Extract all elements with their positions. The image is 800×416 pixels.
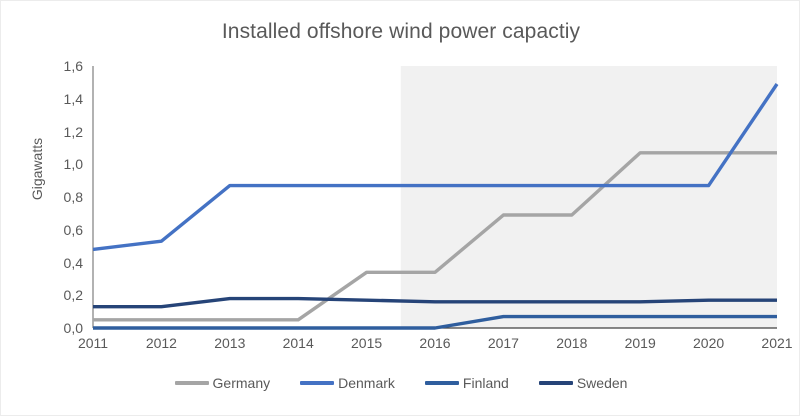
legend-swatch-icon [300, 381, 334, 385]
y-tick-label: 1,2 [37, 124, 83, 140]
x-tick-label: 2017 [473, 335, 533, 351]
x-tick-label: 2012 [131, 335, 191, 351]
y-tick-label: 0,2 [37, 287, 83, 303]
y-tick-label: 0,4 [37, 255, 83, 271]
x-tick-label: 2013 [200, 335, 260, 351]
plot-svg [93, 66, 777, 328]
chart-legend: GermanyDenmarkFinlandSweden [1, 375, 800, 391]
x-tick-label: 2016 [405, 335, 465, 351]
plot-area [93, 66, 777, 328]
y-tick-label: 0,0 [37, 320, 83, 336]
y-tick-label: 0,8 [37, 189, 83, 205]
legend-label: Germany [213, 375, 271, 391]
x-tick-label: 2018 [542, 335, 602, 351]
y-tick-label: 1,6 [37, 58, 83, 74]
legend-swatch-icon [425, 381, 459, 385]
highlight-band [401, 66, 777, 328]
x-tick-label: 2021 [747, 335, 800, 351]
legend-item-finland[interactable]: Finland [425, 375, 509, 391]
y-tick-label: 1,0 [37, 156, 83, 172]
y-tick-label: 1,4 [37, 91, 83, 107]
x-tick-label: 2014 [268, 335, 328, 351]
chart-screenshot: Installed offshore wind power capactiy G… [0, 0, 800, 416]
x-tick-label: 2020 [679, 335, 739, 351]
y-tick-label: 0,6 [37, 222, 83, 238]
chart-title: Installed offshore wind power capactiy [1, 20, 800, 44]
legend-swatch-icon [539, 381, 573, 385]
y-axis-tick-labels: 0,00,20,40,60,81,01,21,41,6 [31, 66, 83, 328]
legend-swatch-icon [175, 381, 209, 385]
x-tick-label: 2011 [63, 335, 123, 351]
legend-item-germany[interactable]: Germany [175, 375, 271, 391]
legend-label: Sweden [577, 375, 628, 391]
legend-item-sweden[interactable]: Sweden [539, 375, 628, 391]
legend-label: Finland [463, 375, 509, 391]
legend-label: Denmark [338, 375, 395, 391]
x-tick-label: 2019 [610, 335, 670, 351]
x-tick-label: 2015 [337, 335, 397, 351]
legend-item-denmark[interactable]: Denmark [300, 375, 395, 391]
x-axis-tick-labels: 2011201220132014201520162017201820192020… [93, 335, 777, 357]
